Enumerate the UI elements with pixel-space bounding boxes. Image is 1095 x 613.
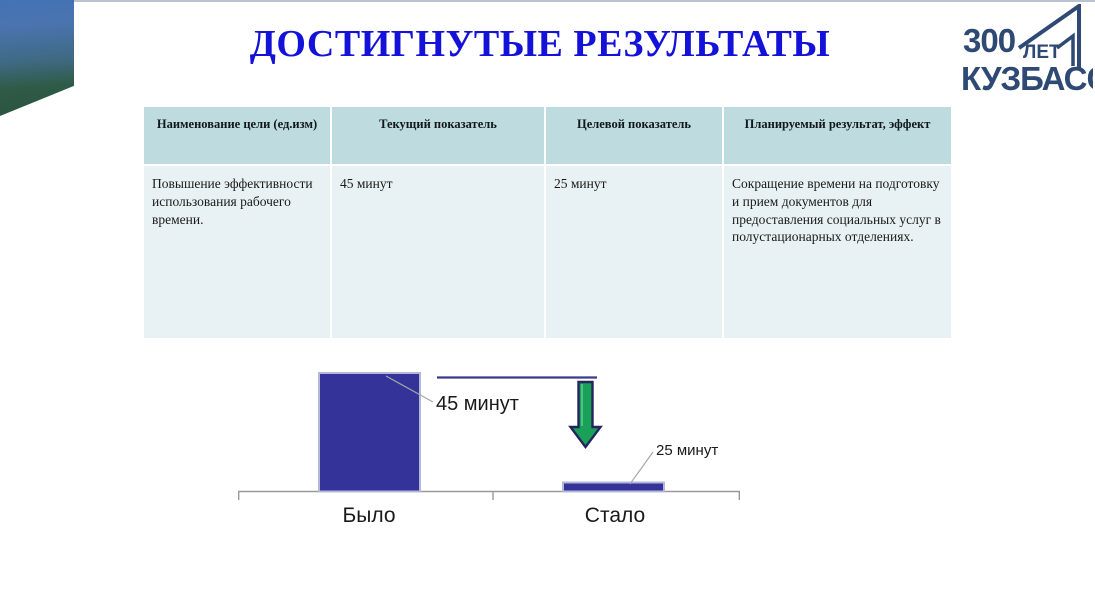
decorative-corner-shape	[0, 0, 74, 116]
leader-line-after	[630, 452, 653, 484]
chart-axis	[238, 492, 740, 501]
page-title: ДОСТИГНУТЫЕ РЕЗУЛЬТАТЫ	[150, 22, 930, 66]
table-header-current-value: Текущий показатель	[332, 107, 544, 164]
cell-goal-name: Повышение эффективности использования ра…	[144, 166, 330, 338]
value-label-before: 45 минут	[436, 393, 519, 415]
logo-line1: 300	[963, 22, 1015, 59]
logo-line2: КУЗБАСС	[961, 60, 1093, 97]
bar-before	[319, 373, 420, 492]
category-label-before: Было	[342, 504, 395, 527]
top-border-rule	[0, 0, 1095, 2]
results-table: Наименование цели (ед.изм) Текущий показ…	[142, 105, 953, 340]
cell-planned-result: Сокращение времени на подготовку и прием…	[724, 166, 951, 338]
bar-after	[563, 483, 664, 492]
cell-target-value: 25 минут	[546, 166, 722, 338]
table-header-planned-result: Планируемый результат, эффект	[724, 107, 951, 164]
value-label-after: 25 минут	[656, 442, 718, 459]
before-after-bar-chart: 45 минут 25 минут Было Стало	[230, 360, 770, 540]
cell-current-value: 45 минут	[332, 166, 544, 338]
kuzbass-300-logo: 300 ЛЕТ КУЗБАСС	[961, 4, 1093, 100]
down-arrow-icon	[571, 382, 601, 447]
table-header-target-value: Целевой показатель	[546, 107, 722, 164]
table-header-row: Наименование цели (ед.изм) Текущий показ…	[144, 107, 951, 164]
table-header-goal-name: Наименование цели (ед.изм)	[144, 107, 330, 164]
category-label-after: Стало	[585, 504, 645, 527]
table-row: Повышение эффективности использования ра…	[144, 166, 951, 338]
